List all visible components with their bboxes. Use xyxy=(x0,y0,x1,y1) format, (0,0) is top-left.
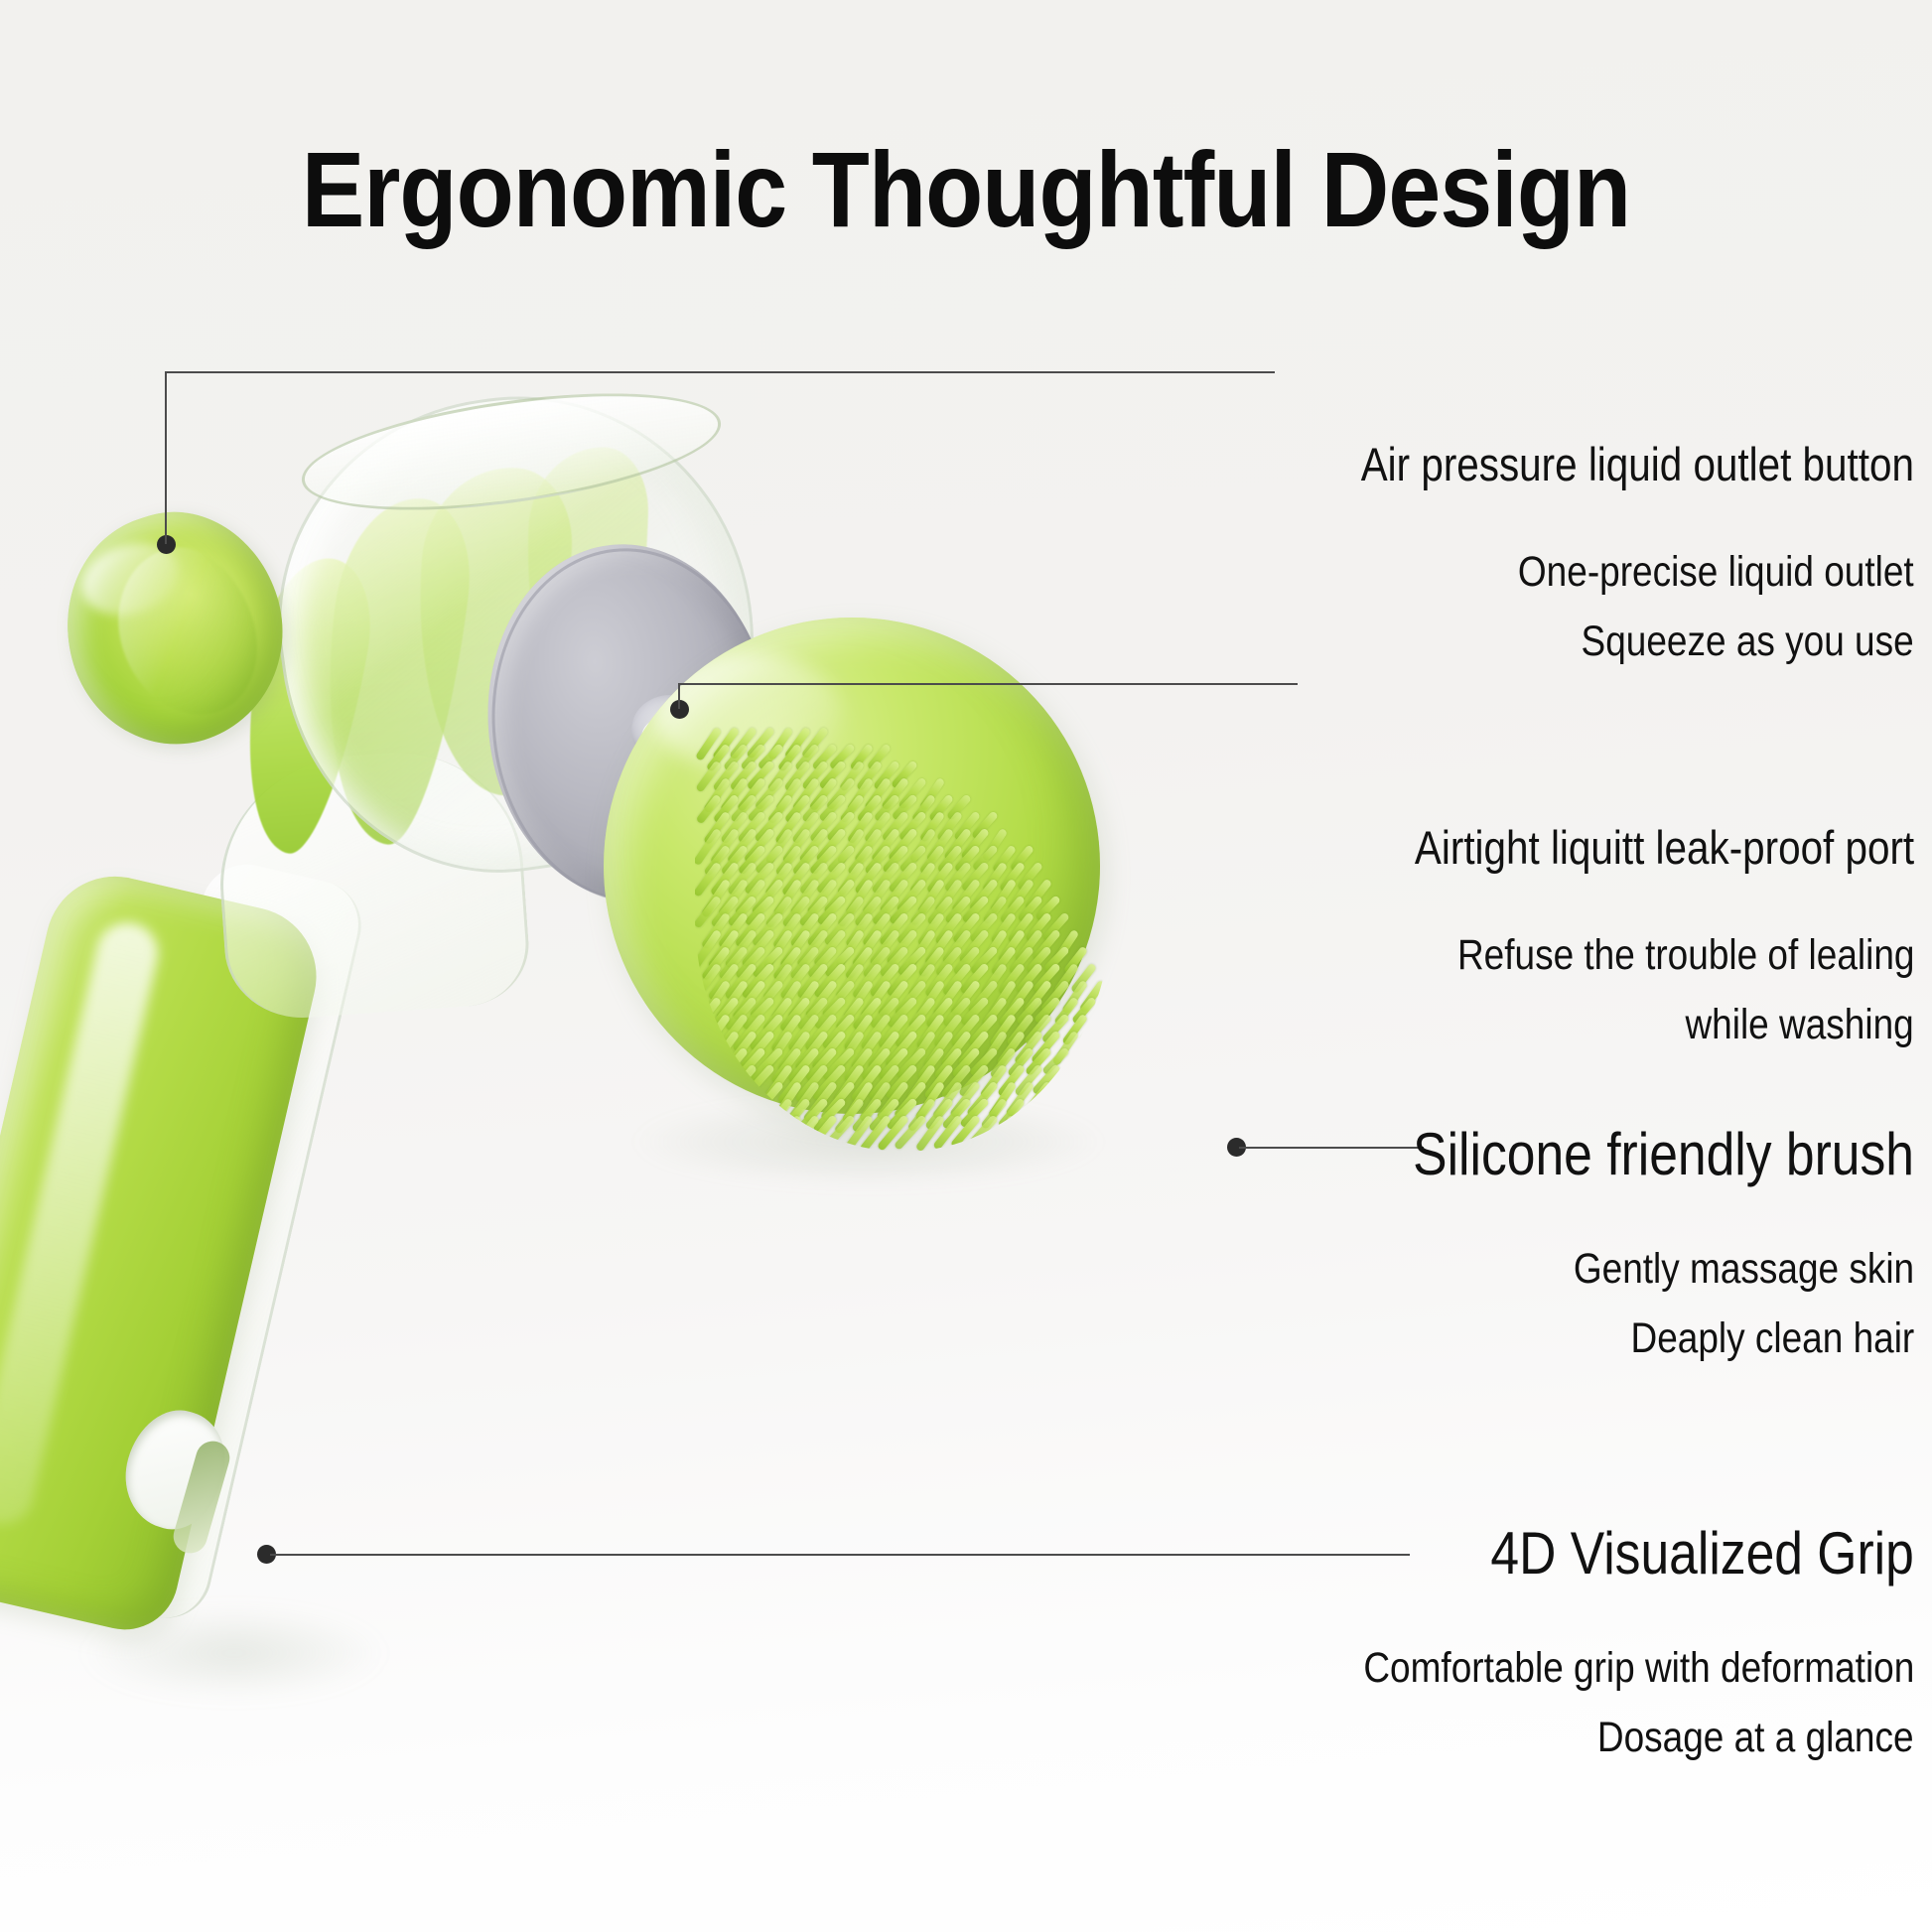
callout-heading-silicone-brush: Silicone friendly brush xyxy=(1413,1120,1914,1188)
callout-subtext-air-pressure-2: Squeeze as you use xyxy=(1582,618,1914,666)
callout-subtext-leak-proof-2: while washing xyxy=(1686,1001,1914,1049)
leader-line-port-vertical xyxy=(678,683,680,709)
page-title: Ergonomic Thoughtful Design xyxy=(116,127,1816,251)
leader-line-port-horizontal xyxy=(678,683,1298,685)
callout-heading-air-pressure: Air pressure liquid outlet button xyxy=(1361,437,1914,491)
leader-line-silicone-brush xyxy=(1239,1147,1424,1149)
leader-line-4d-grip xyxy=(270,1554,1410,1556)
callout-subtext-leak-proof-1: Refuse the trouble of lealing xyxy=(1456,931,1914,980)
callout-subtext-4d-grip-1: Comfortable grip with deformation xyxy=(1363,1644,1914,1693)
leader-line-air-pressure-vertical xyxy=(165,371,167,544)
callout-subtext-air-pressure-1: One-precise liquid outlet xyxy=(1518,548,1914,597)
leader-line-air-pressure-horizontal xyxy=(165,371,1275,373)
callout-heading-4d-grip: 4D Visualized Grip xyxy=(1491,1519,1914,1587)
infographic-canvas: Ergonomic Thoughtful Design Air pressure… xyxy=(0,0,1932,1932)
callout-subtext-silicone-2: Deaply clean hair xyxy=(1630,1314,1914,1363)
callout-heading-leak-proof-port: Airtight liquitt leak-proof port xyxy=(1415,820,1914,875)
callout-subtext-4d-grip-2: Dosage at a glance xyxy=(1597,1714,1914,1762)
callout-subtext-silicone-1: Gently massage skin xyxy=(1574,1245,1914,1294)
